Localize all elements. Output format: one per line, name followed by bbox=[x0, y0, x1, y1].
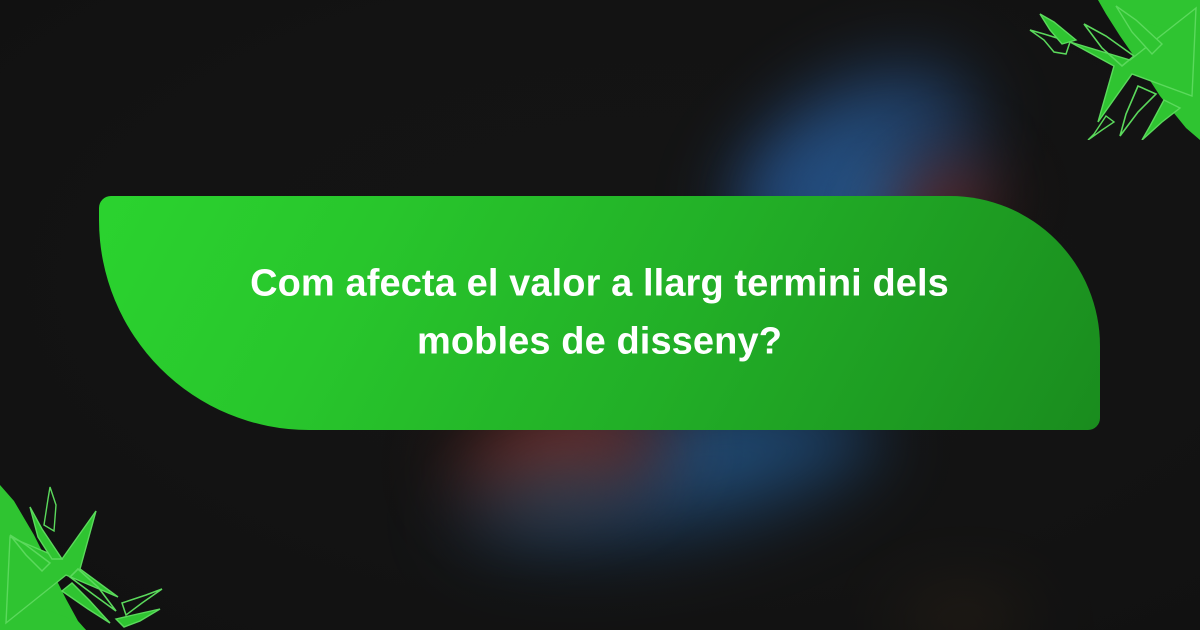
page-title: Com afecta el valor a llarg termini dels… bbox=[99, 255, 1100, 371]
social-card: Com afecta el valor a llarg termini dels… bbox=[0, 0, 1200, 630]
headline-banner: Com afecta el valor a llarg termini dels… bbox=[99, 196, 1100, 430]
